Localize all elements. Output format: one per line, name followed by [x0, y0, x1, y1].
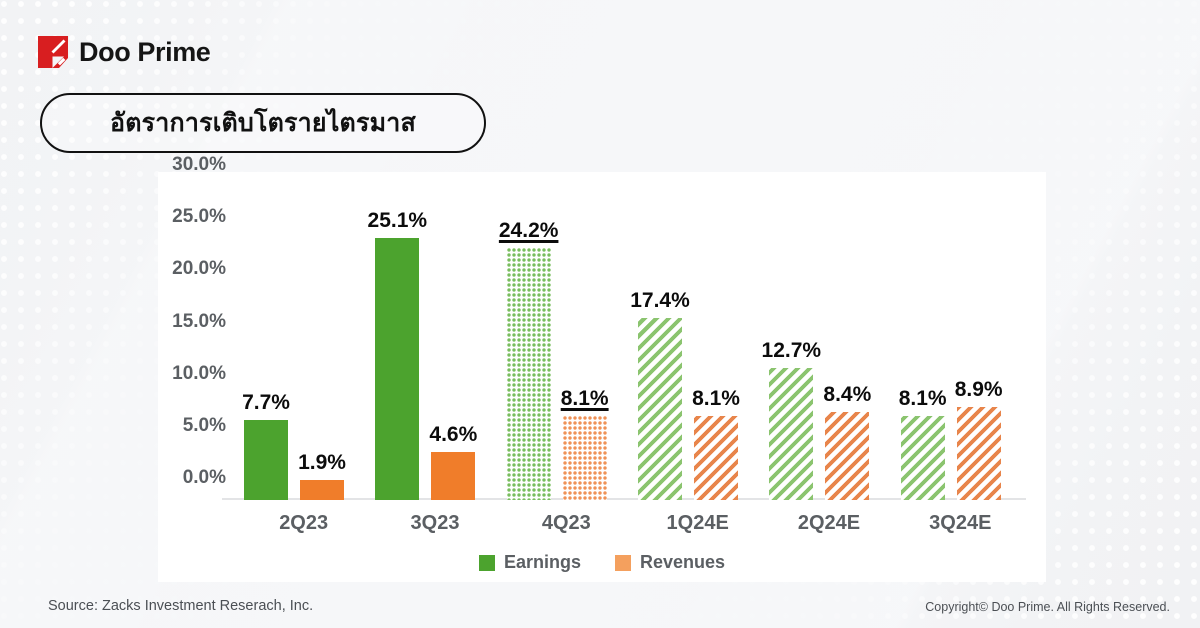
bar-group: 25.1%4.6%3Q23: [369, 187, 500, 500]
brand-name: Doo Prime: [79, 37, 210, 68]
bar-revenues-2q24e[interactable]: 8.4%: [825, 412, 869, 500]
bar-earnings-2q24e[interactable]: 12.7%: [769, 368, 813, 501]
bar-value-label: 25.1%: [368, 209, 428, 233]
y-axis-tick-label: 30.0%: [172, 154, 226, 176]
bar-revenues-4q23[interactable]: 8.1%: [563, 416, 607, 501]
y-axis-tick-label: 10.0%: [172, 363, 226, 385]
bar-revenues-2q23[interactable]: 1.9%: [300, 480, 344, 500]
chart-legend: EarningsRevenues: [158, 552, 1046, 573]
bar-earnings-3q24e[interactable]: 8.1%: [901, 416, 945, 501]
bar-value-label: 17.4%: [630, 289, 690, 313]
bar-value-label: 24.2%: [499, 219, 559, 243]
x-axis-tick-label: 1Q24E: [667, 512, 729, 535]
bar-value-label: 8.9%: [955, 378, 1003, 402]
brand-logo: Doo Prime: [38, 36, 210, 68]
bar-earnings-2q23[interactable]: 7.7%: [244, 420, 288, 500]
chart-panel: 0.0%5.0%10.0%15.0%20.0%25.0%30.0% 7.7%1.…: [158, 172, 1046, 582]
copyright-note: Copyright© Doo Prime. All Rights Reserve…: [925, 600, 1170, 614]
x-axis-tick-label: 3Q24E: [929, 512, 991, 535]
legend-swatch-icon: [615, 555, 631, 571]
y-axis-tick-label: 20.0%: [172, 258, 226, 280]
legend-item[interactable]: Revenues: [615, 552, 725, 573]
x-axis-tick-label: 3Q23: [411, 512, 460, 535]
bar-earnings-1q24e[interactable]: 17.4%: [638, 318, 682, 500]
doo-prime-logo-icon: [38, 36, 68, 68]
bar-value-label: 8.1%: [561, 387, 609, 411]
bar-earnings-3q23[interactable]: 25.1%: [375, 238, 419, 500]
bar-revenues-1q24e[interactable]: 8.1%: [694, 416, 738, 501]
bar-group: 8.1%8.9%3Q24E: [895, 187, 1026, 500]
legend-item[interactable]: Earnings: [479, 552, 581, 573]
bar-value-label: 8.4%: [823, 383, 871, 407]
bar-revenues-3q24e[interactable]: 8.9%: [957, 407, 1001, 500]
legend-swatch-icon: [479, 555, 495, 571]
y-axis-tick-label: 15.0%: [172, 311, 226, 333]
source-note: Source: Zacks Investment Reserach, Inc.: [48, 598, 313, 614]
legend-label: Earnings: [504, 552, 581, 573]
bar-group: 12.7%8.4%2Q24E: [763, 187, 894, 500]
page-title-pill: อัตราการเติบโตรายไตรมาส: [40, 93, 486, 153]
bar-revenues-3q23[interactable]: 4.6%: [431, 452, 475, 500]
bar-value-label: 7.7%: [242, 391, 290, 415]
bar-value-label: 8.1%: [899, 387, 947, 411]
bar-group: 7.7%1.9%2Q23: [238, 187, 369, 500]
bar-value-label: 12.7%: [762, 339, 822, 363]
bar-value-label: 4.6%: [429, 423, 477, 447]
legend-label: Revenues: [640, 552, 725, 573]
bar-value-label: 8.1%: [692, 387, 740, 411]
y-axis-tick-label: 0.0%: [183, 467, 226, 489]
y-axis-tick-label: 5.0%: [183, 415, 226, 437]
bar-group: 17.4%8.1%1Q24E: [632, 187, 763, 500]
bar-group: 24.2%8.1%4Q23: [501, 187, 632, 500]
x-axis-tick-label: 4Q23: [542, 512, 591, 535]
chart-plot-area: 0.0%5.0%10.0%15.0%20.0%25.0%30.0% 7.7%1.…: [238, 187, 1026, 500]
x-axis-tick-label: 2Q24E: [798, 512, 860, 535]
bar-value-label: 1.9%: [298, 451, 346, 475]
bar-earnings-4q23[interactable]: 24.2%: [507, 248, 551, 500]
x-axis-tick-label: 2Q23: [279, 512, 328, 535]
y-axis-tick-label: 25.0%: [172, 206, 226, 228]
poster-canvas: Doo Prime อัตราการเติบโตรายไตรมาส 0.0%5.…: [0, 0, 1200, 628]
page-title: อัตราการเติบโตรายไตรมาส: [110, 103, 416, 143]
